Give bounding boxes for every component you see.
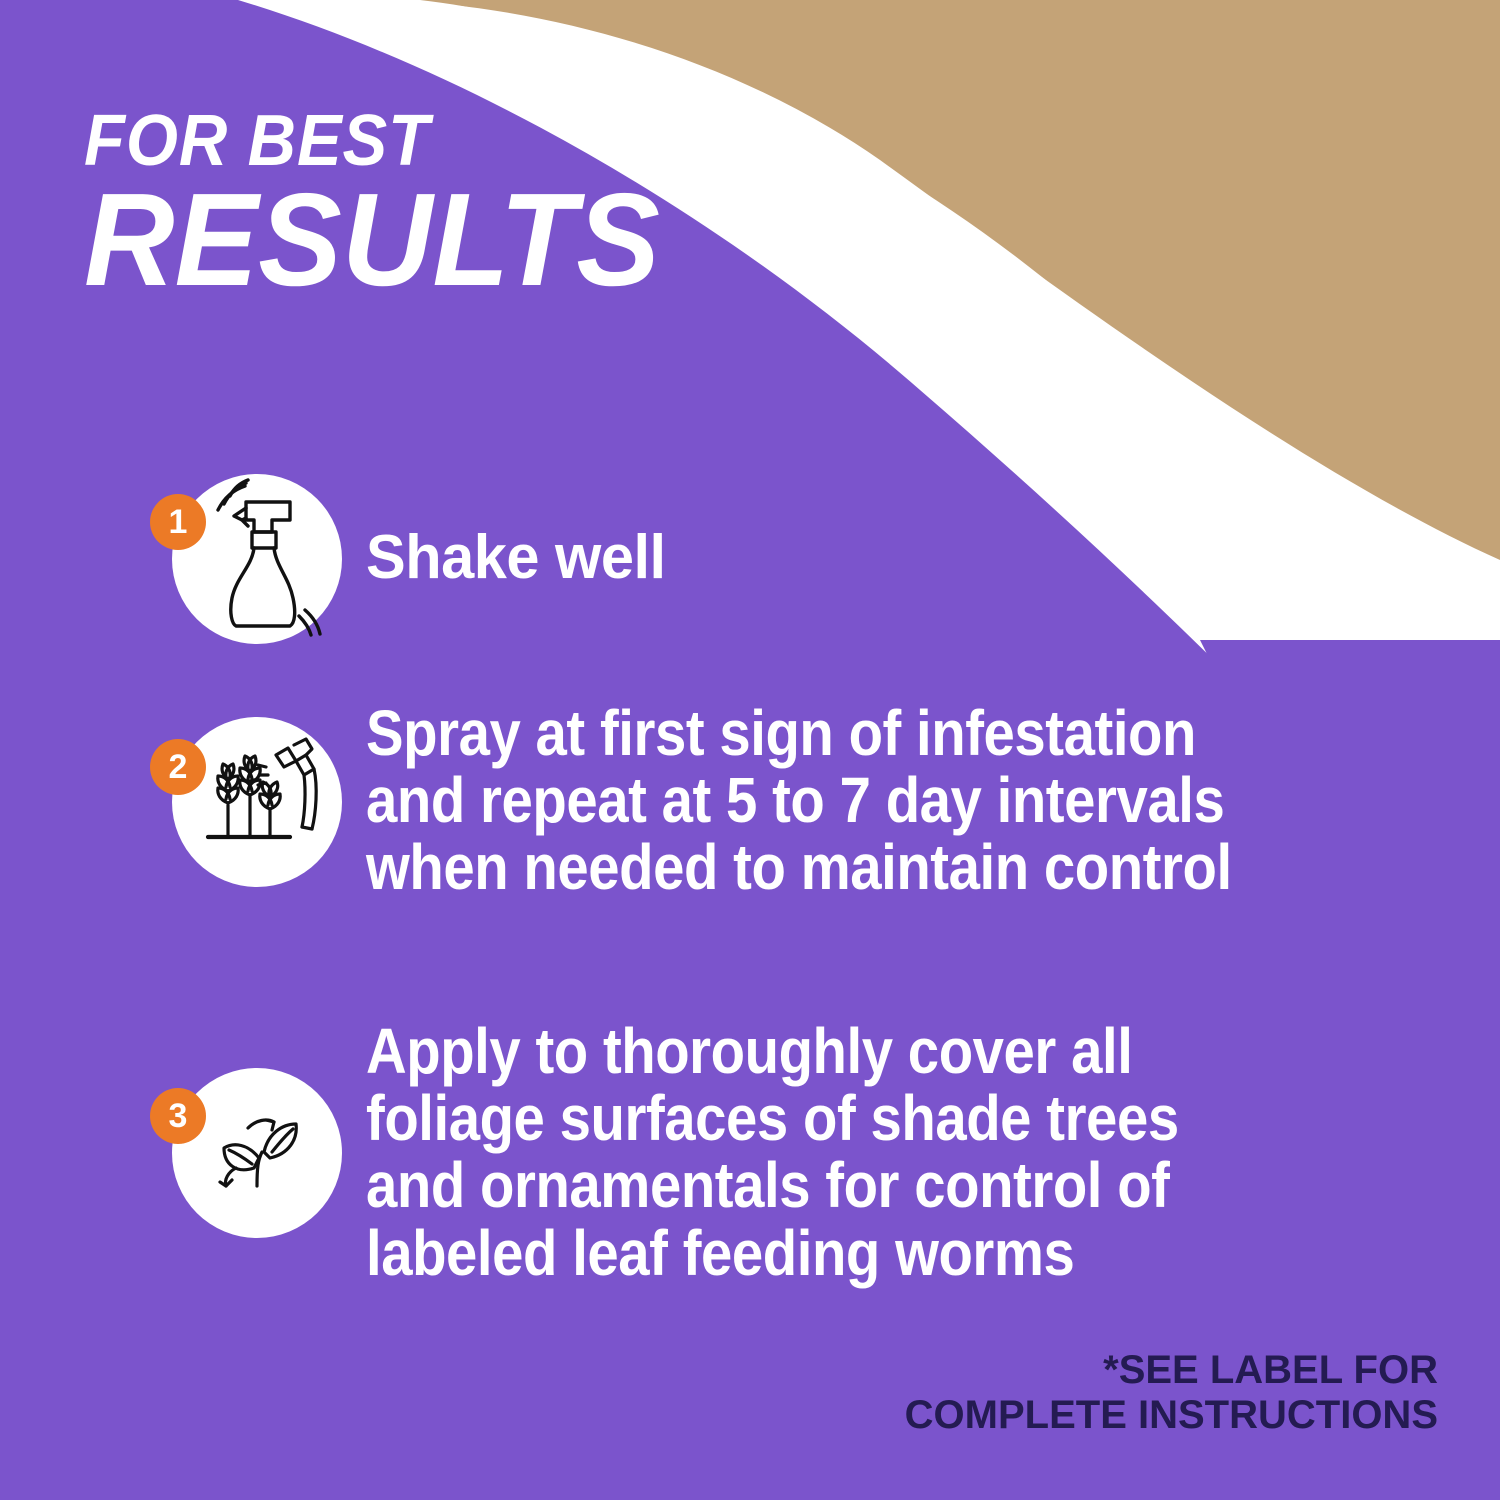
- step-2-text: Spray at first sign of infestation and r…: [366, 700, 1350, 902]
- step-1-text-line-1: Shake well: [366, 525, 666, 590]
- spray-plants-icon: [172, 717, 342, 887]
- step-3-icon-wrap: 3: [150, 1056, 342, 1248]
- step-item-1: 1 Shake well: [150, 462, 678, 654]
- step-1-badge: 1: [150, 494, 206, 550]
- step-3-text-line-2: foliage surfaces of shade trees: [366, 1085, 1179, 1152]
- step-3-text: Apply to thoroughly cover all foliage su…: [366, 1018, 1290, 1287]
- step-3-text-line-4: labeled leaf feeding worms: [366, 1220, 1179, 1287]
- step-1-icon-wrap: 1: [150, 462, 342, 654]
- step-2-text-line-3: when needed to maintain control: [366, 834, 1232, 901]
- step-2-badge: 2: [150, 739, 206, 795]
- step-1-text: Shake well: [366, 525, 678, 590]
- step-3-text-line-1: Apply to thoroughly cover all: [366, 1018, 1179, 1085]
- leaf-coverage-icon: [172, 1068, 342, 1238]
- step-2-text-line-1: Spray at first sign of infestation: [366, 700, 1232, 767]
- footer-line-1: *SEE LABEL FOR: [905, 1348, 1438, 1393]
- step-3-badge: 3: [150, 1088, 206, 1144]
- step-3-text-line-3: and ornamentals for control of: [366, 1152, 1179, 1219]
- for-best-results-poster: FOR BEST RESULTS: [0, 0, 1500, 1500]
- spray-bottle-shake-icon: [172, 474, 342, 644]
- step-2-icon-wrap: 2: [150, 705, 342, 897]
- footer-line-2: COMPLETE INSTRUCTIONS: [905, 1393, 1438, 1438]
- step-item-2: 2 Spray at first sign of infestation and…: [150, 700, 1350, 902]
- footer-disclaimer: *SEE LABEL FOR COMPLETE INSTRUCTIONS: [905, 1348, 1438, 1438]
- step-item-3: 3 Apply to thoroughly cover all foliage …: [150, 1018, 1290, 1287]
- steps-list: 1 Shake well: [0, 0, 1500, 1500]
- step-2-text-line-2: and repeat at 5 to 7 day intervals: [366, 767, 1232, 834]
